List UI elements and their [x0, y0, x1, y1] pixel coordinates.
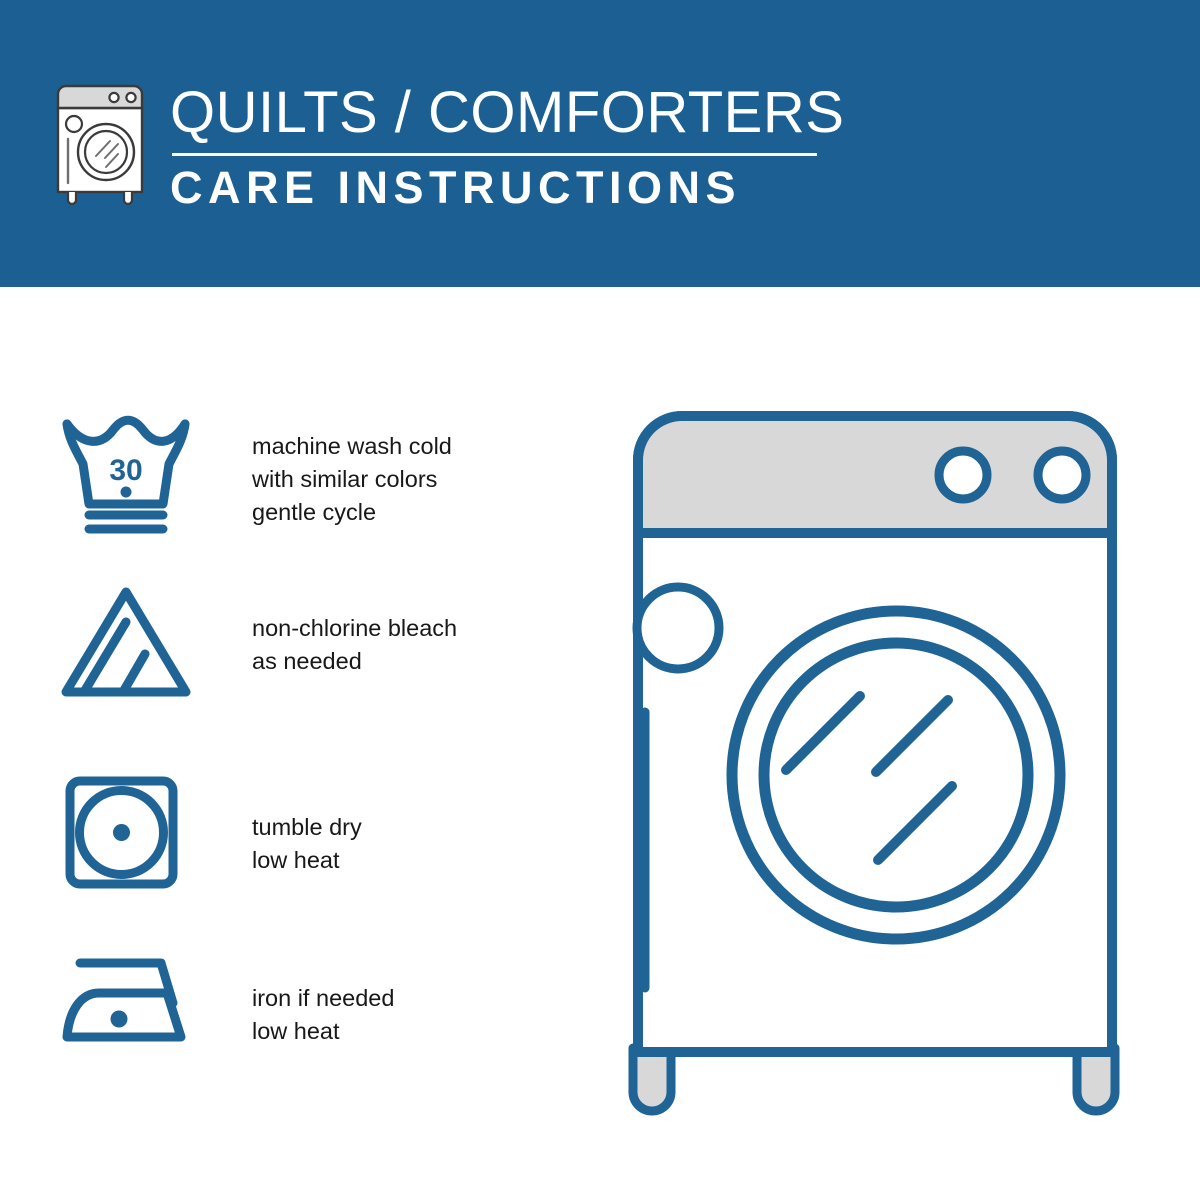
- non-chlorine-bleach-triangle-icon: [55, 584, 200, 709]
- care-instruction-label: tumble dry low heat: [252, 811, 362, 877]
- front-load-washing-machine-illustration: [600, 400, 1170, 1120]
- tumble-dry-low-heat-icon: [55, 771, 200, 896]
- washing-machine-icon: [52, 78, 160, 208]
- wash-tub-30-gentle-icon: 30: [55, 412, 200, 537]
- leg-right: [1077, 1048, 1115, 1111]
- header-text-block: QUILTS / COMFORTERS CARE INSTRUCTIONS: [170, 82, 830, 214]
- detergent-drawer-circle: [637, 587, 719, 669]
- leg-left: [633, 1048, 671, 1111]
- care-instruction-label: non-chlorine bleach as needed: [252, 612, 457, 678]
- care-instruction-label: machine wash cold with similar colors ge…: [252, 430, 452, 529]
- header-divider: [172, 153, 817, 156]
- wash-temperature-value: 30: [109, 454, 142, 487]
- page-title: QUILTS / COMFORTERS: [170, 82, 830, 144]
- header-band: QUILTS / COMFORTERS CARE INSTRUCTIONS: [0, 0, 1200, 287]
- care-instruction-label: iron if needed low heat: [252, 982, 394, 1048]
- care-instructions-page: QUILTS / COMFORTERS CARE INSTRUCTIONS: [0, 0, 1200, 1200]
- knob-right: [1038, 451, 1086, 499]
- door-inner-ring: [764, 643, 1028, 907]
- knob-left: [939, 451, 987, 499]
- iron-low-heat-icon: [55, 949, 200, 1074]
- page-subtitle: CARE INSTRUCTIONS: [170, 162, 830, 214]
- care-instruction-list: 30 machine wash cold with similar colors…: [0, 287, 560, 1200]
